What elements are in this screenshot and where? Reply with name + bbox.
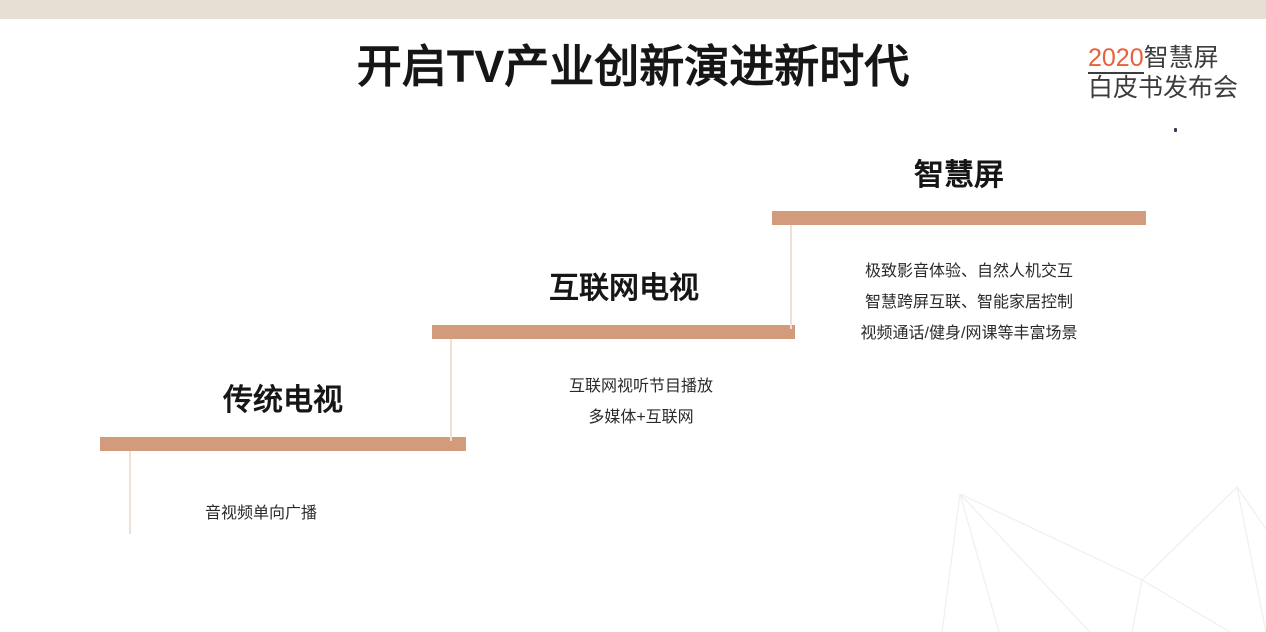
slide-canvas: 开启TV产业创新演进新时代 2020智慧屏 白皮书发布会 传统电视 音视频单向广…: [0, 0, 1266, 632]
step-label-internet-tv: 互联网电视: [432, 263, 816, 307]
top-decorative-band: [0, 0, 1266, 19]
step-connector-smart-screen: [790, 225, 792, 329]
logo-line-1: 2020智慧屏: [1088, 44, 1238, 74]
step-bar-traditional-tv: [100, 437, 466, 451]
step-desc-line: 极致影音体验、自然人机交互: [800, 256, 1138, 287]
logo-title-part: 智慧屏: [1144, 44, 1219, 72]
step-desc-line: 视频通话/健身/网课等丰富场景: [800, 318, 1138, 349]
step-description-internet-tv: 互联网视听节目播放 多媒体+互联网: [472, 371, 810, 433]
page-title: 开启TV产业创新演进新时代: [0, 42, 1266, 92]
polygon-decoration-icon: [900, 462, 1266, 632]
step-desc-line: 智慧跨屏互联、智能家居控制: [800, 287, 1138, 318]
step-connector-internet-tv: [450, 339, 452, 441]
step-description-smart-screen: 极致影音体验、自然人机交互 智慧跨屏互联、智能家居控制 视频通话/健身/网课等丰…: [800, 256, 1138, 350]
step-desc-line: 互联网视听节目播放: [472, 371, 810, 402]
step-desc-line: 音视频单向广播: [96, 498, 426, 529]
step-label-smart-screen: 智慧屏: [772, 150, 1146, 194]
step-bar-smart-screen: [772, 211, 1146, 225]
logo-dot-icon: [1174, 128, 1177, 132]
event-logo: 2020智慧屏 白皮书发布会: [1088, 44, 1238, 103]
logo-line-2: 白皮书发布会: [1088, 74, 1238, 104]
logo-year: 2020: [1088, 44, 1144, 74]
step-label-traditional-tv: 传统电视: [100, 375, 466, 419]
step-description-traditional-tv: 音视频单向广播: [96, 498, 426, 529]
step-desc-line: 多媒体+互联网: [472, 402, 810, 433]
step-bar-internet-tv: [432, 325, 795, 339]
